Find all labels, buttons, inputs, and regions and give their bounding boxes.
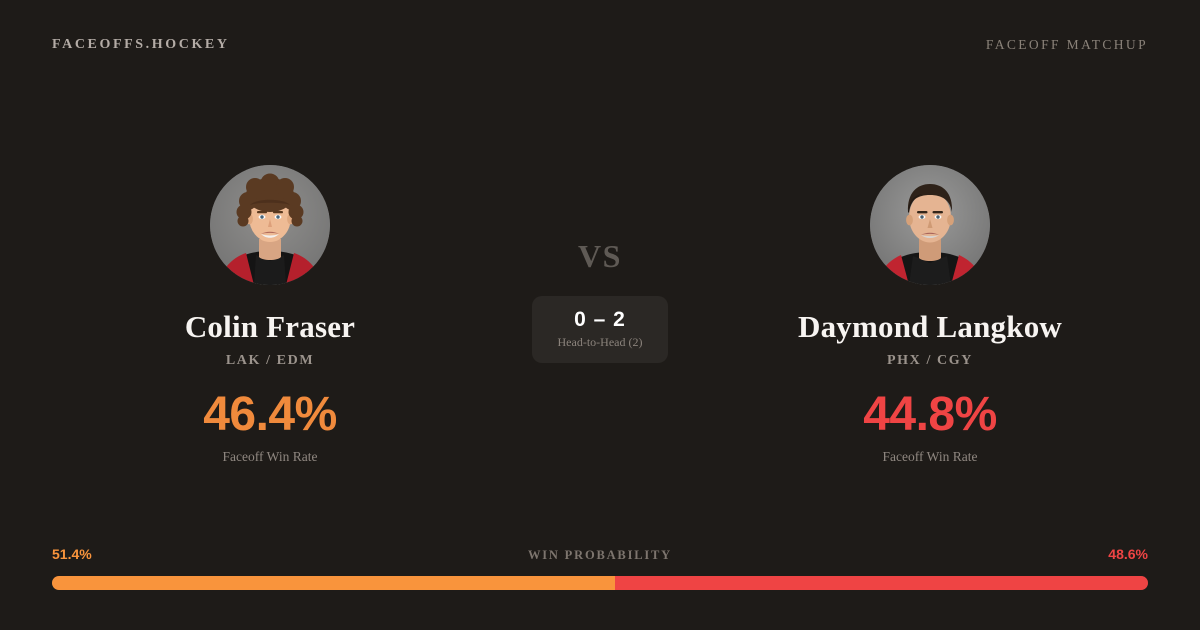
player-name-right: Daymond Langkow	[798, 310, 1062, 344]
win-probability-bar-left	[52, 576, 615, 590]
site-brand[interactable]: FACEOFFS.HOCKEY	[52, 37, 230, 53]
win-probability-title: WIN PROBABILITY	[52, 548, 1148, 563]
win-probability-right-value: 48.6%	[1108, 546, 1148, 562]
head-to-head-score: 0 – 2	[574, 308, 626, 331]
versus-column: VS 0 – 2 Head-to-Head (2)	[510, 90, 690, 363]
player-teams-left: LAK / EDM	[226, 353, 314, 369]
versus-label: VS	[578, 240, 622, 272]
win-probability-bar[interactable]	[52, 576, 1148, 590]
player-card-right[interactable]: Daymond Langkow PHX / CGY 44.8% Faceoff …	[690, 90, 1170, 465]
win-probability-section: 51.4% WIN PROBABILITY 48.6%	[52, 546, 1148, 590]
player-faceoff-label-left: Faceoff Win Rate	[223, 449, 318, 465]
player-headshot-left	[210, 165, 330, 285]
head-to-head-label: Head-to-Head (2)	[558, 335, 643, 350]
player-headshot-right	[870, 165, 990, 285]
head-to-head-card[interactable]: 0 – 2 Head-to-Head (2)	[532, 296, 669, 363]
win-probability-bar-right	[615, 576, 1148, 590]
player-card-left[interactable]: Colin Fraser LAK / EDM 46.4% Faceoff Win…	[30, 90, 510, 465]
player-faceoff-pct-right: 44.8%	[863, 391, 997, 439]
player-name-left: Colin Fraser	[185, 310, 355, 344]
matchup-stage: Colin Fraser LAK / EDM 46.4% Faceoff Win…	[0, 90, 1200, 520]
player-teams-right: PHX / CGY	[887, 353, 973, 369]
player-faceoff-pct-left: 46.4%	[203, 391, 337, 439]
page-kicker: FACEOFF MATCHUP	[986, 37, 1148, 53]
player-faceoff-label-right: Faceoff Win Rate	[883, 449, 978, 465]
win-probability-labels: 51.4% WIN PROBABILITY 48.6%	[52, 546, 1148, 568]
page-header: FACEOFFS.HOCKEY FACEOFF MATCHUP	[0, 0, 1200, 90]
